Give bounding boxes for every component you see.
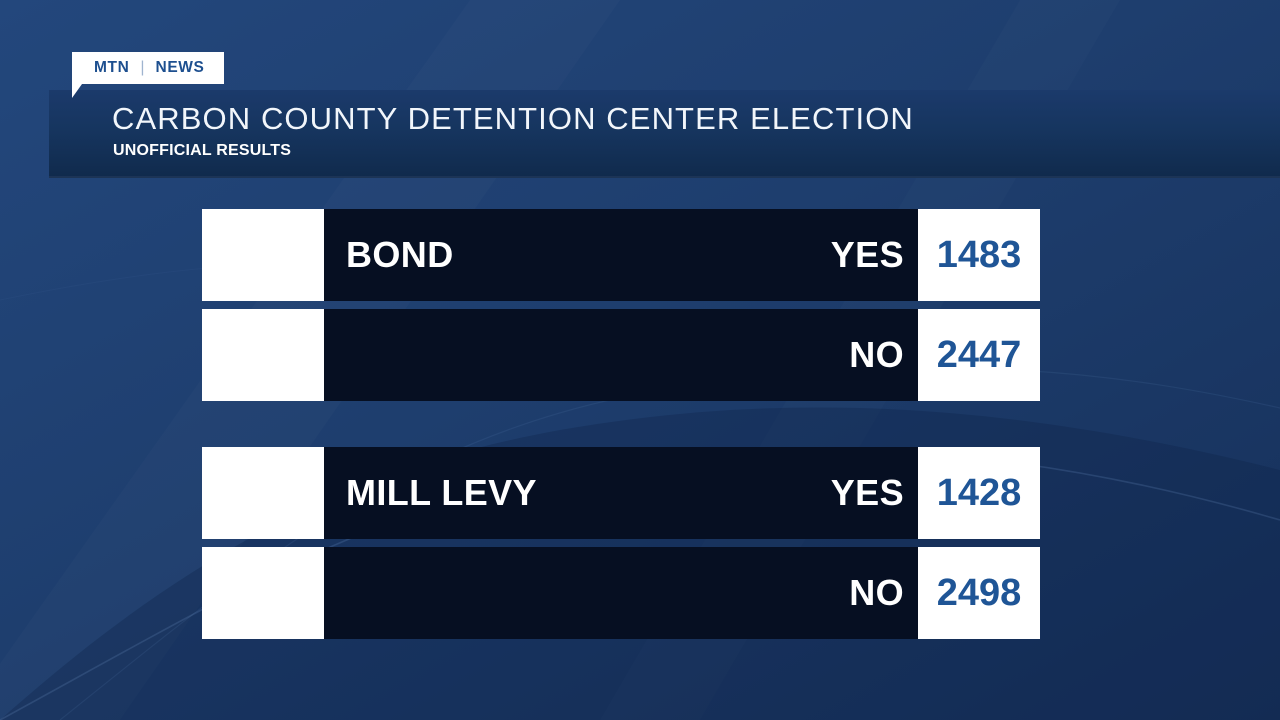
vote-choice-label: YES xyxy=(831,234,904,276)
vote-count: 1483 xyxy=(918,209,1040,301)
row-body: NO xyxy=(324,309,918,401)
row-divider xyxy=(202,301,1040,309)
vote-count: 2447 xyxy=(918,309,1040,401)
race-group: BONDYES1483NO2447 xyxy=(202,209,1040,401)
header-band: CARBON COUNTY DETENTION CENTER ELECTION … xyxy=(49,90,1280,178)
vote-choice-label: NO xyxy=(849,334,904,376)
page-title: CARBON COUNTY DETENTION CENTER ELECTION xyxy=(112,101,914,137)
row-body: MILL LEVYYES xyxy=(324,447,918,539)
logo-news-text: NEWS xyxy=(156,59,205,77)
broadcast-graphic: CARBON COUNTY DETENTION CENTER ELECTION … xyxy=(0,0,1280,720)
header-subtitle: UNOFFICIAL RESULTS xyxy=(113,142,291,160)
results-list: BONDYES1483NO2447MILL LEVYYES1428NO2498 xyxy=(202,209,1040,639)
candidate-photo-placeholder xyxy=(202,447,324,539)
row-body: NO xyxy=(324,547,918,639)
logo-mtn-text: MTN xyxy=(94,59,129,77)
row-divider xyxy=(202,539,1040,547)
table-row[interactable]: MILL LEVYYES1428 xyxy=(202,447,1040,539)
table-row[interactable]: NO2447 xyxy=(202,309,1040,401)
row-body: BONDYES xyxy=(324,209,918,301)
table-row[interactable]: NO2498 xyxy=(202,547,1040,639)
vote-count: 1428 xyxy=(918,447,1040,539)
vote-choice-label: NO xyxy=(849,572,904,614)
candidate-photo-placeholder xyxy=(202,309,324,401)
table-row[interactable]: BONDYES1483 xyxy=(202,209,1040,301)
race-group-gap xyxy=(202,401,1040,447)
measure-name: BOND xyxy=(346,234,454,276)
candidate-photo-placeholder xyxy=(202,547,324,639)
mtn-news-logo: MTN | NEWS xyxy=(72,52,224,84)
race-group: MILL LEVYYES1428NO2498 xyxy=(202,447,1040,639)
candidate-photo-placeholder xyxy=(202,209,324,301)
vote-choice-label: YES xyxy=(831,472,904,514)
logo-tail-icon xyxy=(72,84,82,98)
vote-count: 2498 xyxy=(918,547,1040,639)
measure-name: MILL LEVY xyxy=(346,472,537,514)
logo-separator: | xyxy=(140,59,144,77)
